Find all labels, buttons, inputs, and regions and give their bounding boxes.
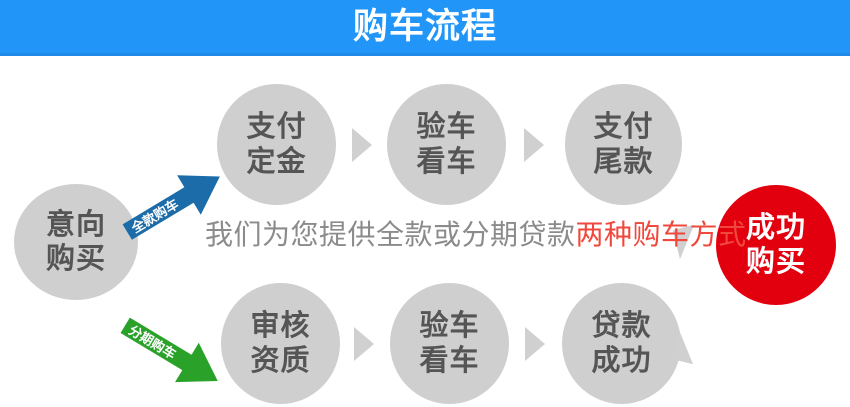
node-line-1: 贷款 xyxy=(591,309,651,343)
center-caption: 我们为您提供全款或分期贷款两种购车方式 xyxy=(205,215,685,255)
node-line-1: 验车 xyxy=(419,309,479,343)
node-line-2: 购买 xyxy=(46,242,106,276)
node-line-2: 购买 xyxy=(746,245,806,279)
node-line-1: 意向 xyxy=(46,208,106,242)
node-line-2: 定金 xyxy=(246,145,306,179)
header-banner: 购车流程 xyxy=(0,0,850,55)
flow-node-inspect-car-bottom: 验车 看车 xyxy=(390,283,509,404)
node-line-2: 资质 xyxy=(250,344,310,378)
page-title: 购车流程 xyxy=(0,0,850,53)
connector-triangle-icon xyxy=(525,327,545,361)
caption-accent: 两种购车方式 xyxy=(576,219,747,250)
flow-node-review-qualification: 审核 资质 xyxy=(221,283,340,404)
node-line-1: 支付 xyxy=(593,110,653,144)
flow-node-pay-deposit: 支付 定金 xyxy=(217,84,336,205)
node-line-1: 验车 xyxy=(416,110,476,144)
node-line-2: 成功 xyxy=(591,344,651,378)
flow-node-loan-approved: 贷款 成功 xyxy=(562,283,681,404)
node-line-2: 看车 xyxy=(416,145,476,179)
node-line-1: 支付 xyxy=(246,110,306,144)
connector-triangle-icon xyxy=(524,128,544,162)
flow-node-inspect-car-top: 验车 看车 xyxy=(387,84,506,205)
node-line-2: 尾款 xyxy=(593,145,653,179)
flow-node-intent-purchase: 意向 购买 xyxy=(14,184,138,300)
caption-prefix: 我们为您提供全款或分期贷款 xyxy=(205,219,576,250)
node-line-2: 看车 xyxy=(419,344,479,378)
node-line-1: 成功 xyxy=(746,211,806,245)
flow-diagram: 意向 购买 全款购车 分期购车 支付 定金 验车 看车 xyxy=(0,55,850,407)
purchase-flow-infographic: 购车流程 意向 购买 全款购车 分期购车 支付 定金 xyxy=(0,0,850,407)
flow-node-pay-final-balance: 支付 尾款 xyxy=(565,84,682,205)
node-line-1: 审核 xyxy=(250,309,310,343)
connector-triangle-icon xyxy=(354,327,374,361)
branch-arrow-installment: 分期购车 xyxy=(113,306,231,402)
connector-triangle-icon xyxy=(352,128,372,162)
